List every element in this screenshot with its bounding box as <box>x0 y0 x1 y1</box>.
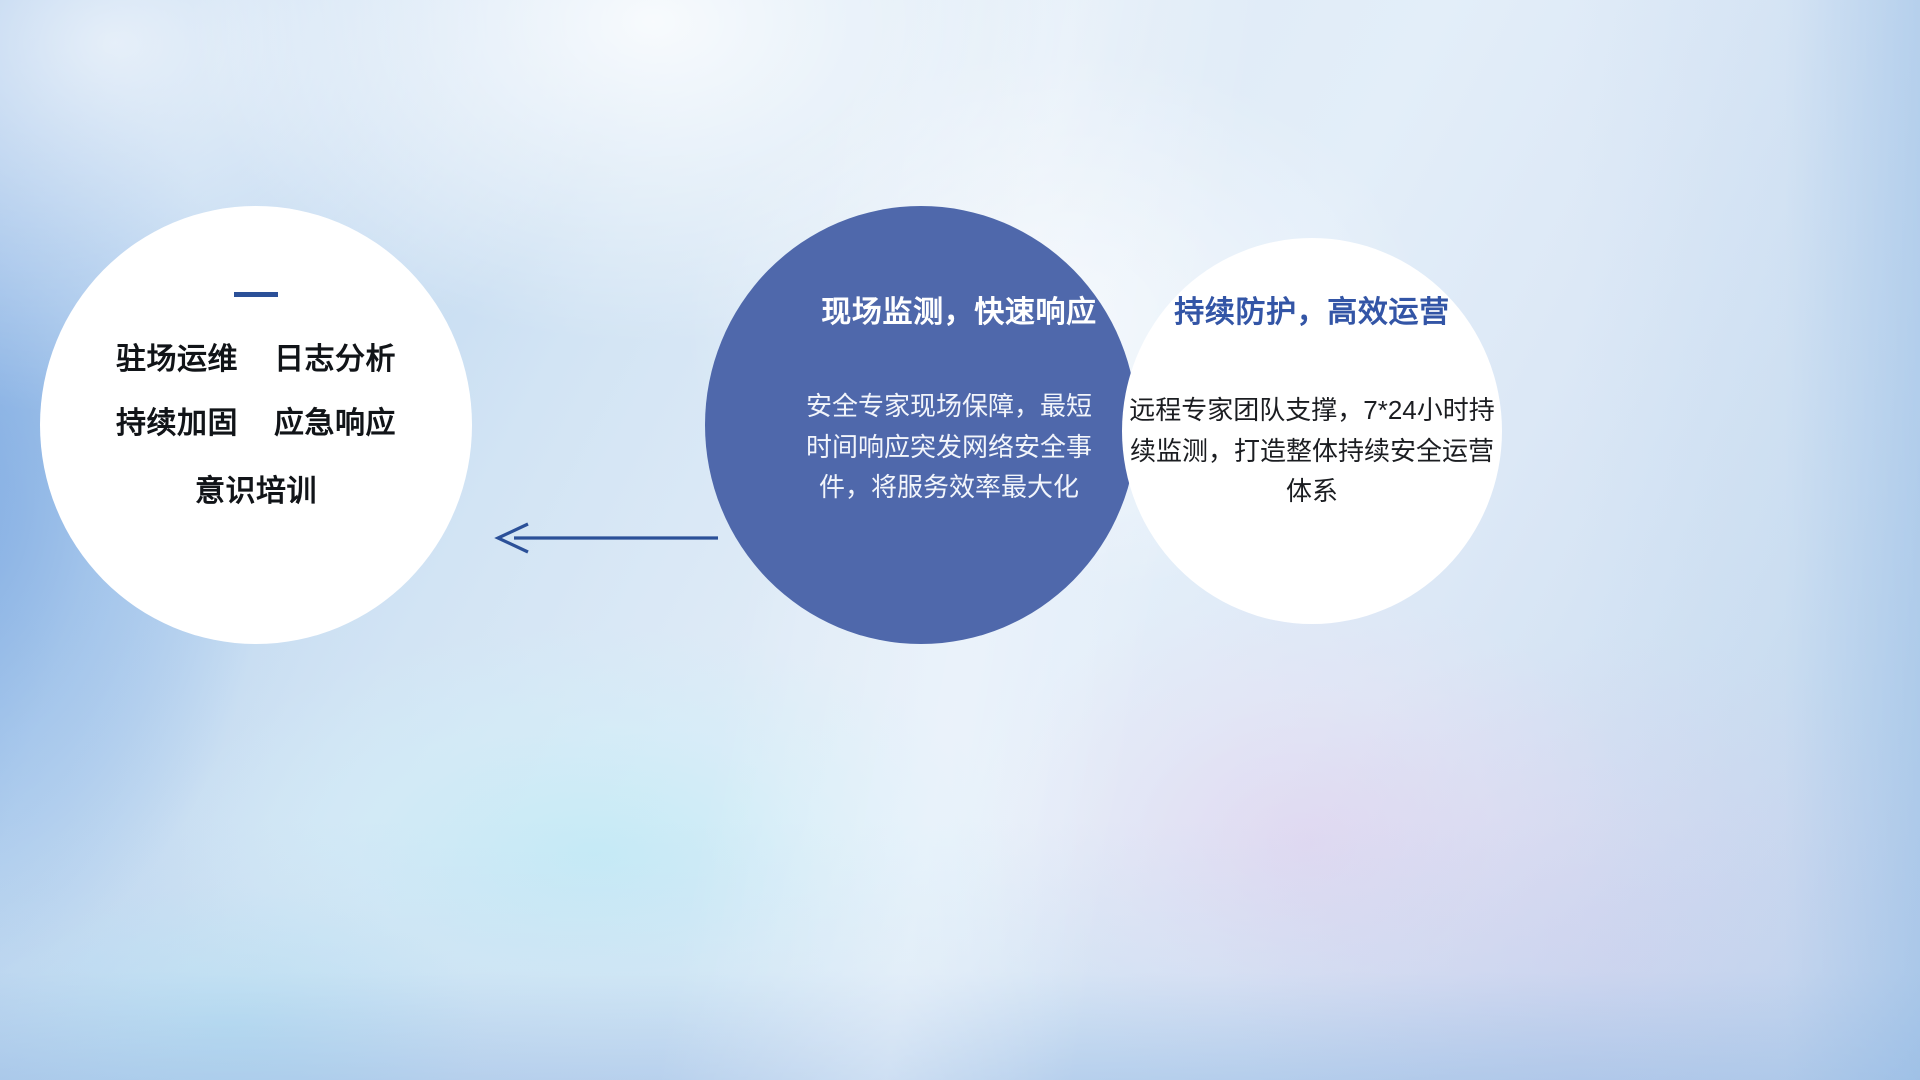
divider-dash <box>234 292 278 297</box>
capability-label: 应急响应 <box>274 409 396 439</box>
capability-row: 意识培训 <box>195 477 317 507</box>
card-title: 持续防护，高效运营 <box>1174 298 1449 328</box>
card-body: 安全专家现场保障，最短时间响应突发网络安全事件，将服务效率最大化 <box>805 386 1093 508</box>
capability-label: 日志分析 <box>274 345 396 375</box>
capability-label: 意识培训 <box>195 477 317 507</box>
capability-row: 驻场运维 日志分析 <box>116 345 396 375</box>
slide-canvas: 驻场运维 日志分析 持续加固 应急响应 意识培训 现场监测，快速响应 安全专家现… <box>0 0 1920 1080</box>
on-site-monitoring-card[interactable]: 现场监测，快速响应 安全专家现场保障，最短时间响应突发网络安全事件，将服务效率最… <box>705 206 1137 644</box>
card-title: 现场监测，快速响应 <box>821 298 1096 328</box>
card-body: 远程专家团队支撑，7*24小时持续监测，打造整体持续安全运营体系 <box>1126 390 1498 512</box>
capability-label: 持续加固 <box>116 409 238 439</box>
left-pointing-arrow <box>480 512 720 564</box>
on-site-operations-card[interactable]: 驻场运维 日志分析 持续加固 应急响应 意识培训 <box>40 206 472 644</box>
capability-label: 驻场运维 <box>116 345 238 375</box>
capability-row: 持续加固 应急响应 <box>116 409 396 439</box>
continuous-protection-card[interactable]: 持续防护，高效运营 远程专家团队支撑，7*24小时持续监测，打造整体持续安全运营… <box>1122 238 1502 624</box>
